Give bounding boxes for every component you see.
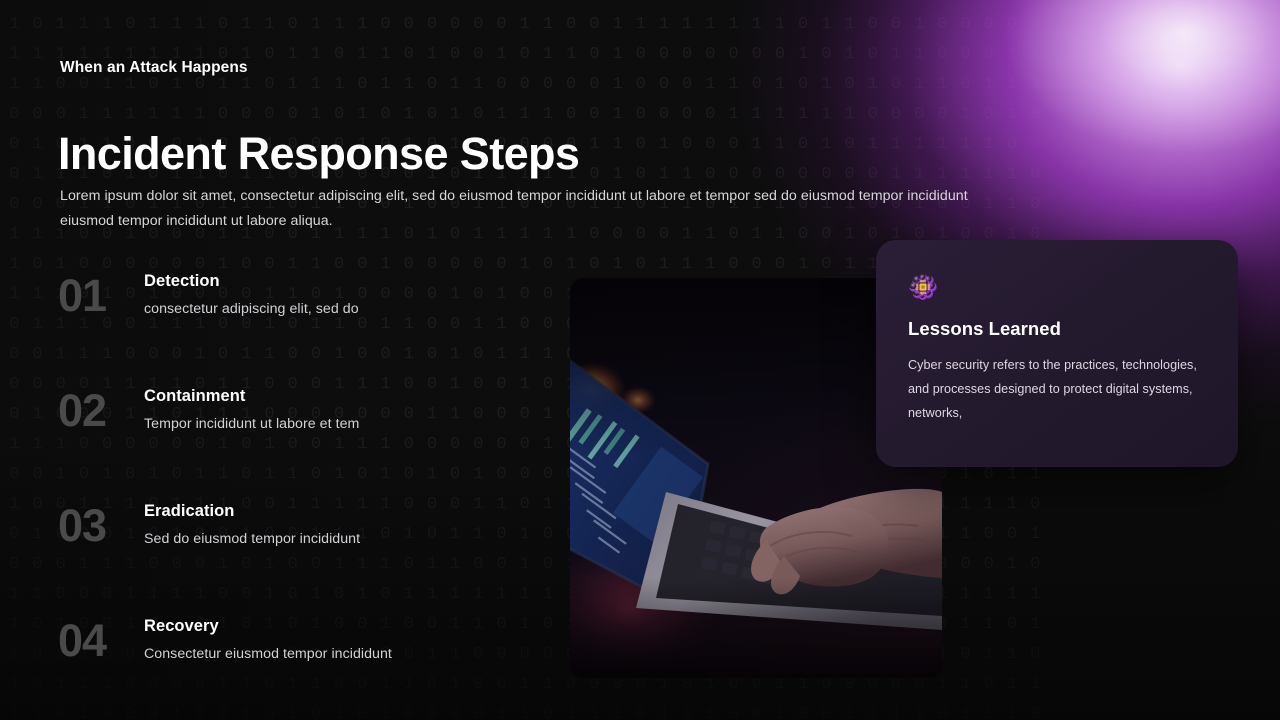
- list-item[interactable]: 04RecoveryConsectetur eiusmod tempor inc…: [58, 607, 528, 720]
- step-body: RecoveryConsectetur eiusmod tempor incid…: [144, 617, 392, 662]
- step-body: EradicationSed do eiusmod tempor incidid…: [144, 502, 360, 547]
- step-title: Eradication: [144, 502, 360, 521]
- step-number: 02: [58, 385, 136, 437]
- step-body: Detectionconsectetur adipiscing elit, se…: [144, 272, 359, 317]
- step-title: Detection: [144, 272, 359, 291]
- incident-response-steps-list: 01Detectionconsectetur adipiscing elit, …: [58, 262, 528, 720]
- lessons-learned-card[interactable]: Lessons Learned Cyber security refers to…: [876, 240, 1238, 467]
- step-description: Sed do eiusmod tempor incididunt: [144, 531, 360, 547]
- slide-eyebrow: When an Attack Happens: [60, 59, 248, 77]
- step-title: Recovery: [144, 617, 392, 636]
- step-number: 03: [58, 500, 136, 552]
- step-title: Containment: [144, 387, 359, 406]
- step-description: Tempor incididunt ut labore et tem: [144, 416, 359, 432]
- incident-response-slide: 0111100111011011010010011010010100101001…: [0, 0, 1280, 720]
- page-title: Incident Response Steps: [58, 127, 579, 181]
- step-number: 04: [58, 615, 136, 667]
- brain-chip-icon: [908, 272, 938, 302]
- step-number: 01: [58, 270, 136, 322]
- card-title: Lessons Learned: [908, 318, 1208, 340]
- card-description: Cyber security refers to the practices, …: [908, 353, 1220, 425]
- step-description: consectetur adipiscing elit, sed do: [144, 301, 359, 317]
- slide-description: Lorem ipsum dolor sit amet, consectetur …: [60, 184, 1010, 234]
- list-item[interactable]: 03EradicationSed do eiusmod tempor incid…: [58, 492, 528, 607]
- step-body: ContainmentTempor incididunt ut labore e…: [144, 387, 359, 432]
- list-item[interactable]: 01Detectionconsectetur adipiscing elit, …: [58, 262, 528, 377]
- list-item[interactable]: 02ContainmentTempor incididunt ut labore…: [58, 377, 528, 492]
- step-description: Consectetur eiusmod tempor incididunt: [144, 646, 392, 662]
